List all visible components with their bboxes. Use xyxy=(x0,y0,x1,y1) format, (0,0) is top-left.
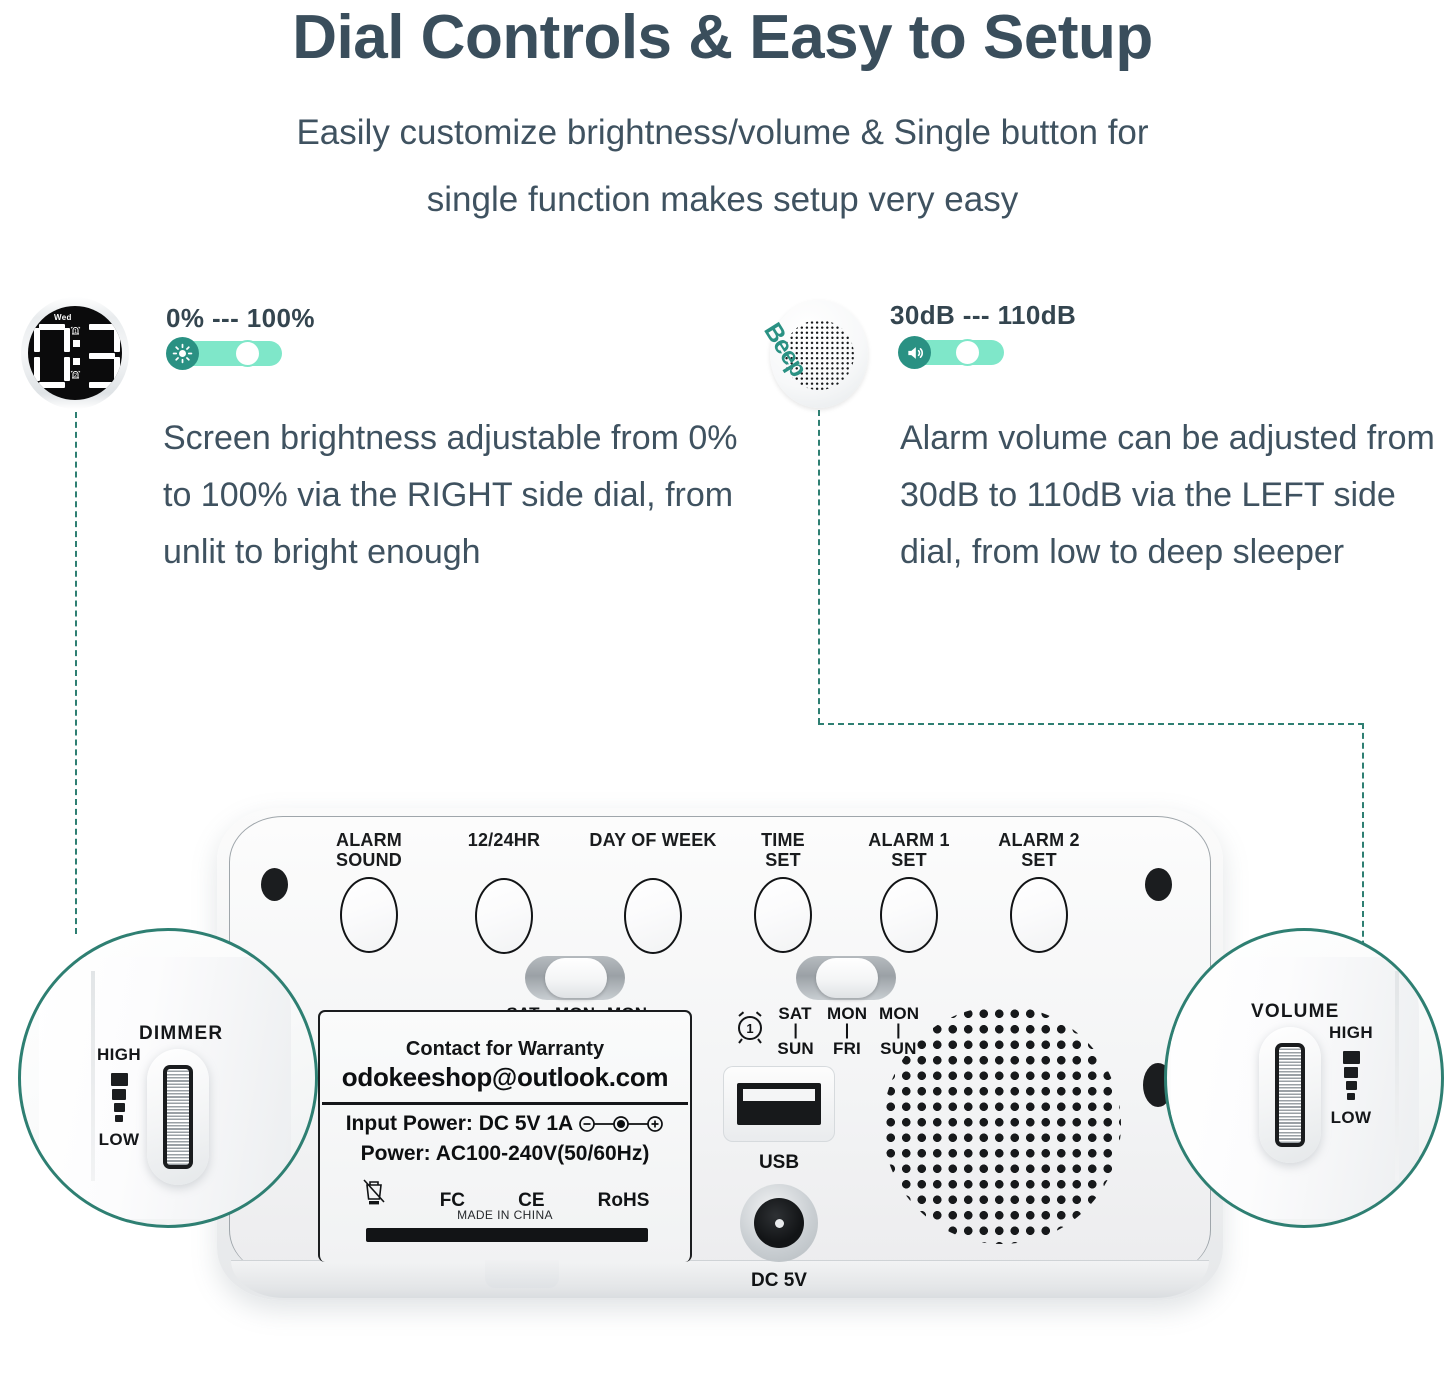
alarm-clock-rear-panel: ALARM SOUND 12/24HR DAY OF WEEK TIME SET… xyxy=(205,808,1235,1308)
button-alarm-sound-knob[interactable] xyxy=(340,877,398,953)
dimmer-magnifier: DIMMER HIGH LOW xyxy=(18,928,318,1228)
dc-port-pin xyxy=(775,1219,784,1228)
clock-colon-top xyxy=(73,340,80,347)
alarm-2-day-switch[interactable] xyxy=(525,956,625,1000)
input-power-text: Input Power: DC 5V 1A xyxy=(346,1112,573,1135)
device-base xyxy=(231,1260,1209,1298)
button-12-24hr[interactable]: 12/24HR xyxy=(445,830,563,954)
volume-toggle[interactable] xyxy=(898,336,1004,368)
alarm-1-day-switch-thumb[interactable] xyxy=(816,958,878,998)
screw-hole-top-left xyxy=(261,868,288,901)
clock-digit-0 xyxy=(34,324,70,388)
subtitle-line-2: single function makes setup very easy xyxy=(120,167,1325,234)
connector-volume-vertical-1 xyxy=(818,410,820,724)
button-alarm-2-set-knob[interactable] xyxy=(1010,877,1068,953)
volume-dial-wheel[interactable] xyxy=(1275,1043,1305,1147)
alarm-1-scale-bottom: SUN FRI SUN xyxy=(777,1039,917,1059)
volume-dial[interactable] xyxy=(1259,1027,1321,1163)
alarm-1-top-0: SAT xyxy=(777,1004,813,1024)
button-day-of-week-knob[interactable] xyxy=(624,878,682,954)
alarm-1-day-switch[interactable] xyxy=(796,956,896,1000)
volume-scale-high: HIGH xyxy=(1323,1023,1379,1043)
svg-text:1: 1 xyxy=(74,329,77,335)
subtitle-line-1: Easily customize brightness/volume & Sin… xyxy=(120,100,1325,167)
button-12-24hr-label: 12/24HR xyxy=(445,830,563,850)
battery-compartment-slot xyxy=(366,1228,648,1242)
alarm-2-day-switch-thumb[interactable] xyxy=(545,958,607,998)
page-subtitle: Easily customize brightness/volume & Sin… xyxy=(120,100,1325,233)
button-alarm-1-set[interactable]: ALARM 1 SET xyxy=(850,830,968,953)
brightness-toggle[interactable] xyxy=(166,337,282,369)
volume-scale-bars xyxy=(1323,1043,1379,1108)
button-alarm-1-set-label-2: SET xyxy=(850,850,968,870)
svg-text:2: 2 xyxy=(74,373,77,379)
speaker-volume-icon xyxy=(898,336,931,369)
clock-screen: Wed 1 2 xyxy=(28,306,122,400)
button-time-set[interactable]: TIME SET xyxy=(733,830,833,953)
dimmer-dial[interactable] xyxy=(147,1049,209,1185)
connector-volume-horizontal xyxy=(818,723,1364,725)
button-12-24hr-knob[interactable] xyxy=(475,878,533,954)
volume-range-label: 30dB --- 110dB xyxy=(890,300,1076,331)
alarm-1-scale-ticks: ||| xyxy=(777,1025,917,1038)
dc-power-port[interactable] xyxy=(740,1184,818,1262)
dimmer-scale-low: LOW xyxy=(91,1130,147,1150)
alarm-1-top-1: MON xyxy=(827,1004,865,1024)
button-time-set-label-2: SET xyxy=(733,850,833,870)
button-alarm-sound-label-1: ALARM xyxy=(315,830,423,850)
input-power-line: Input Power: DC 5V 1A xyxy=(320,1112,690,1136)
dimmer-dial-wheel[interactable] xyxy=(163,1065,193,1169)
dc-port-label: DC 5V xyxy=(733,1270,825,1292)
button-time-set-label-1: TIME xyxy=(733,830,833,850)
button-alarm-2-set-label-2: SET xyxy=(980,850,1098,870)
infographic-page: Dial Controls & Easy to Setup Easily cus… xyxy=(0,0,1445,1380)
made-in-text: MADE IN CHINA xyxy=(320,1208,690,1222)
usb-port-slot xyxy=(737,1083,821,1125)
alarm-clock-1-icon: 1 xyxy=(731,1006,769,1046)
volume-description: Alarm volume can be adjusted from 30dB t… xyxy=(900,410,1445,581)
speaker-grille xyxy=(883,1006,1121,1244)
brightness-range-label: 0% --- 100% xyxy=(166,303,315,334)
volume-toggle-knob[interactable] xyxy=(954,339,981,366)
volume-title: VOLUME xyxy=(1251,1001,1339,1023)
dimmer-title: DIMMER xyxy=(139,1023,223,1045)
clock-colon-bottom xyxy=(73,358,80,365)
clock-display-thumbnail: Wed 1 2 xyxy=(21,297,129,409)
certification-marks: FC CE RoHS xyxy=(334,1176,676,1212)
brightness-description: Screen brightness adjustable from 0% to … xyxy=(163,410,748,581)
volume-body-edge xyxy=(1395,971,1399,1181)
dimmer-scale: HIGH LOW xyxy=(91,1045,147,1150)
dimmer-dial-ribs xyxy=(167,1069,189,1165)
clock-day-of-week: Wed xyxy=(54,313,72,322)
button-day-of-week-label: DAY OF WEEK xyxy=(573,830,733,850)
button-alarm-1-set-label-1: ALARM 1 xyxy=(850,830,968,850)
alarm-1-scale-top: SAT MON MON xyxy=(777,1004,917,1024)
button-alarm-1-set-knob[interactable] xyxy=(880,877,938,953)
alarm-1-indicator-icon: 1 xyxy=(69,324,82,340)
screw-hole-top-right xyxy=(1145,868,1172,901)
speaker-thumbnail: Beep xyxy=(770,300,868,408)
svg-text:1: 1 xyxy=(746,1021,753,1036)
alarm-1-day-scale: SAT MON MON ||| SUN FRI SUN xyxy=(777,1004,917,1059)
alarm-1-bottom-0: SUN xyxy=(777,1039,814,1059)
battery-cover-tab[interactable] xyxy=(485,1260,559,1288)
alarm-1-bottom-1: FRI xyxy=(828,1039,865,1059)
rating-label-plate: Contact for Warranty odokeeshop@outlook.… xyxy=(318,1010,692,1262)
power-line: Power: AC100-240V(50/60Hz) xyxy=(320,1142,690,1166)
sun-brightness-icon xyxy=(166,337,199,370)
brightness-toggle-knob[interactable] xyxy=(234,340,261,367)
page-title: Dial Controls & Easy to Setup xyxy=(0,2,1445,73)
button-day-of-week[interactable]: DAY OF WEEK xyxy=(573,830,733,954)
alarm-2-indicator-icon: 2 xyxy=(69,368,82,384)
dc-polarity-icon xyxy=(578,1112,664,1135)
connector-brightness-vertical xyxy=(75,412,77,934)
dimmer-scale-high: HIGH xyxy=(91,1045,147,1065)
clock-digit-3 xyxy=(84,324,120,388)
volume-magnifier: VOLUME HIGH LOW xyxy=(1164,928,1444,1228)
warranty-heading: Contact for Warranty xyxy=(320,1038,690,1061)
volume-scale-low: LOW xyxy=(1323,1108,1379,1128)
button-time-set-knob[interactable] xyxy=(754,877,812,953)
label-divider xyxy=(322,1102,688,1105)
usb-port-label: USB xyxy=(723,1152,835,1174)
alarm-1-top-2: MON xyxy=(879,1004,917,1024)
usb-port[interactable] xyxy=(723,1066,835,1142)
volume-scale: HIGH LOW xyxy=(1323,1023,1379,1128)
button-alarm-2-set-label-1: ALARM 2 xyxy=(980,830,1098,850)
dimmer-scale-bars xyxy=(91,1065,147,1130)
warranty-email: odokeeshop@outlook.com xyxy=(320,1062,690,1093)
button-alarm-sound-label-2: SOUND xyxy=(315,850,423,870)
dc-port-hole xyxy=(754,1198,804,1248)
button-alarm-sound[interactable]: ALARM SOUND xyxy=(315,830,423,953)
button-alarm-2-set[interactable]: ALARM 2 SET xyxy=(980,830,1098,953)
volume-dial-ribs xyxy=(1279,1047,1301,1143)
weee-bin-icon xyxy=(361,1176,387,1212)
